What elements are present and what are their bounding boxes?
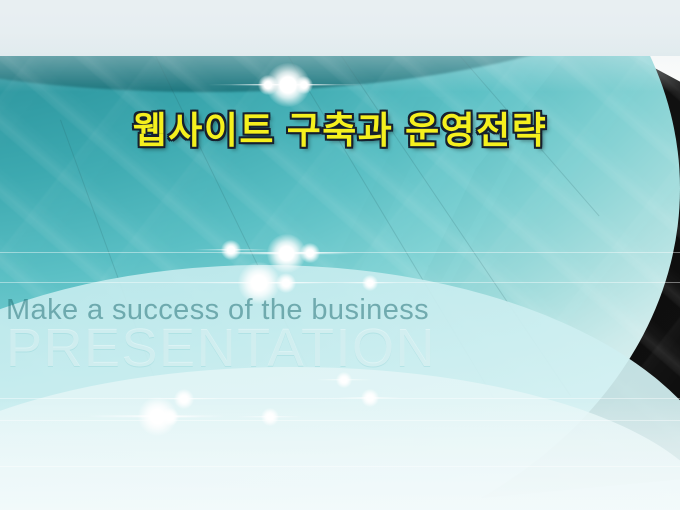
- slide-title: 웹사이트 구축과 운영전략: [0, 100, 680, 154]
- hairline: [0, 282, 680, 283]
- hairline: [0, 420, 680, 421]
- hairline: [0, 466, 680, 467]
- hairline: [0, 398, 680, 399]
- presentation-slide: Make a success of the business PRESENTAT…: [0, 0, 680, 510]
- bottom-white-glaze: [0, 398, 680, 510]
- top-sky-band-fade: [0, 0, 680, 92]
- hairline: [0, 252, 680, 253]
